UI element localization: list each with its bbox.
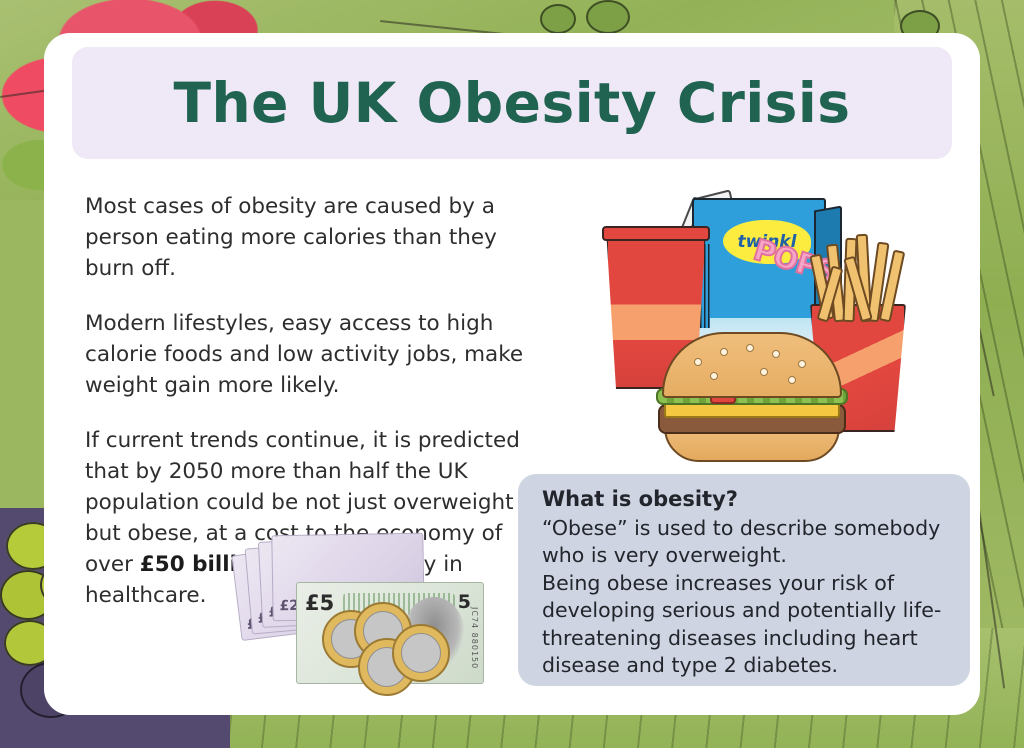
note-5-label: £5 [305, 591, 334, 615]
definition-line: Being obese increases your risk of [542, 570, 950, 598]
broccoli-icon [540, 4, 576, 34]
bun-top-icon [662, 332, 842, 398]
sesame-seed-icon [720, 348, 728, 356]
cup-lid-icon [602, 226, 710, 241]
page-title: The UK Obesity Crisis [173, 71, 850, 135]
sesame-seed-icon [760, 368, 768, 376]
two-pound-coin-icon [392, 624, 450, 682]
money-illustration: £20 £20 £20 £20 £5 5 JC74 880150 [236, 530, 512, 690]
definition-box: What is obesity? “Obese” is used to desc… [518, 474, 970, 686]
note-5-corner-label: 5 [458, 591, 471, 613]
obesity-poster: The UK Obesity Crisis Most cases of obes… [0, 0, 1024, 748]
definition-heading: What is obesity? [542, 486, 950, 514]
definition-line: “Obese” is used to describe somebody [542, 515, 950, 543]
definition-line: disease and type 2 diabetes. [542, 652, 950, 680]
definition-line: threatening diseases including heart [542, 625, 950, 653]
sesame-seed-icon [746, 344, 754, 352]
paragraph-causes: Most cases of obesity are caused by a pe… [85, 191, 553, 284]
definition-line: who is very overweight. [542, 542, 950, 570]
sesame-seed-icon [772, 350, 780, 358]
fast-food-illustration: twinkl POPS [596, 192, 932, 454]
burger-icon [652, 332, 848, 444]
title-banner: The UK Obesity Crisis [72, 47, 952, 159]
paragraph-lifestyles: Modern lifestyles, easy access to high c… [85, 308, 553, 401]
definition-line: developing serious and potentially life- [542, 597, 950, 625]
sesame-seed-icon [788, 376, 796, 384]
sesame-seed-icon [710, 372, 718, 380]
sesame-seed-icon [798, 360, 806, 368]
sesame-seed-icon [694, 358, 702, 366]
broccoli-icon [586, 0, 630, 34]
note-serial-number: JC74 880150 [470, 607, 479, 669]
